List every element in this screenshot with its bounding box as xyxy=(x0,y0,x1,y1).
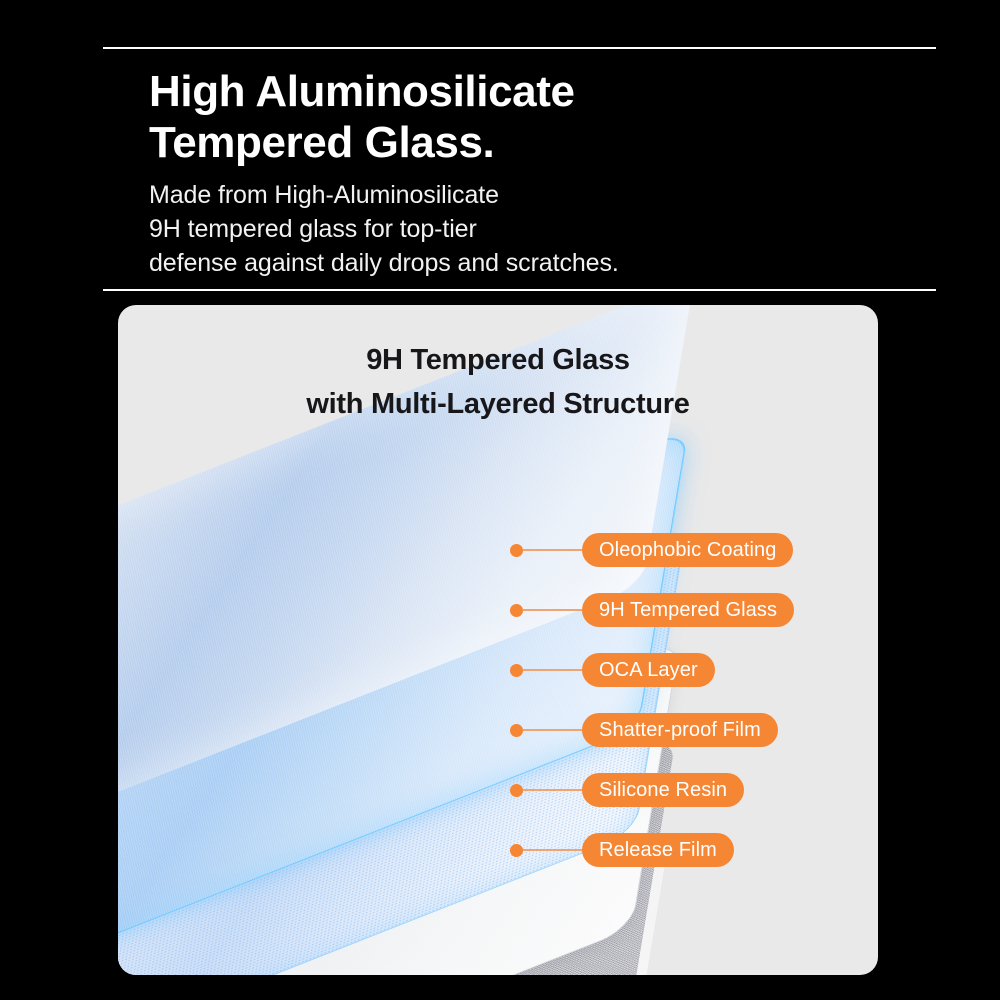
callout-dot-icon xyxy=(510,784,523,797)
callout-connector-line xyxy=(523,609,582,611)
callout-label[interactable]: Release Film xyxy=(582,833,734,867)
product-infographic: High Aluminosilicate Tempered Glass. Mad… xyxy=(0,0,1000,1000)
callout-connector-line xyxy=(523,669,582,671)
callout-dot-icon xyxy=(510,724,523,737)
callout-connector-line xyxy=(523,549,582,551)
callout-connector-line xyxy=(523,729,582,731)
callout-oleophobic-coating[interactable]: Oleophobic Coating xyxy=(510,533,793,567)
callout-label[interactable]: 9H Tempered Glass xyxy=(582,593,794,627)
callout-dot-icon xyxy=(510,664,523,677)
callout-connector-line xyxy=(523,849,582,851)
callout-release-film[interactable]: Release Film xyxy=(510,833,734,867)
callout-dot-icon xyxy=(510,844,523,857)
callout-label[interactable]: Oleophobic Coating xyxy=(582,533,793,567)
callout-9h-tempered-glass[interactable]: 9H Tempered Glass xyxy=(510,593,794,627)
callout-label[interactable]: Silicone Resin xyxy=(582,773,744,807)
callout-shatter-proof-film[interactable]: Shatter-proof Film xyxy=(510,713,778,747)
callout-connector-line xyxy=(523,789,582,791)
callout-dot-icon xyxy=(510,544,523,557)
callout-label[interactable]: OCA Layer xyxy=(582,653,715,687)
callout-group: Oleophobic Coating 9H Tempered Glass OCA… xyxy=(0,0,1000,1000)
callout-oca-layer[interactable]: OCA Layer xyxy=(510,653,715,687)
callout-dot-icon xyxy=(510,604,523,617)
callout-silicone-resin[interactable]: Silicone Resin xyxy=(510,773,744,807)
callout-label[interactable]: Shatter-proof Film xyxy=(582,713,778,747)
